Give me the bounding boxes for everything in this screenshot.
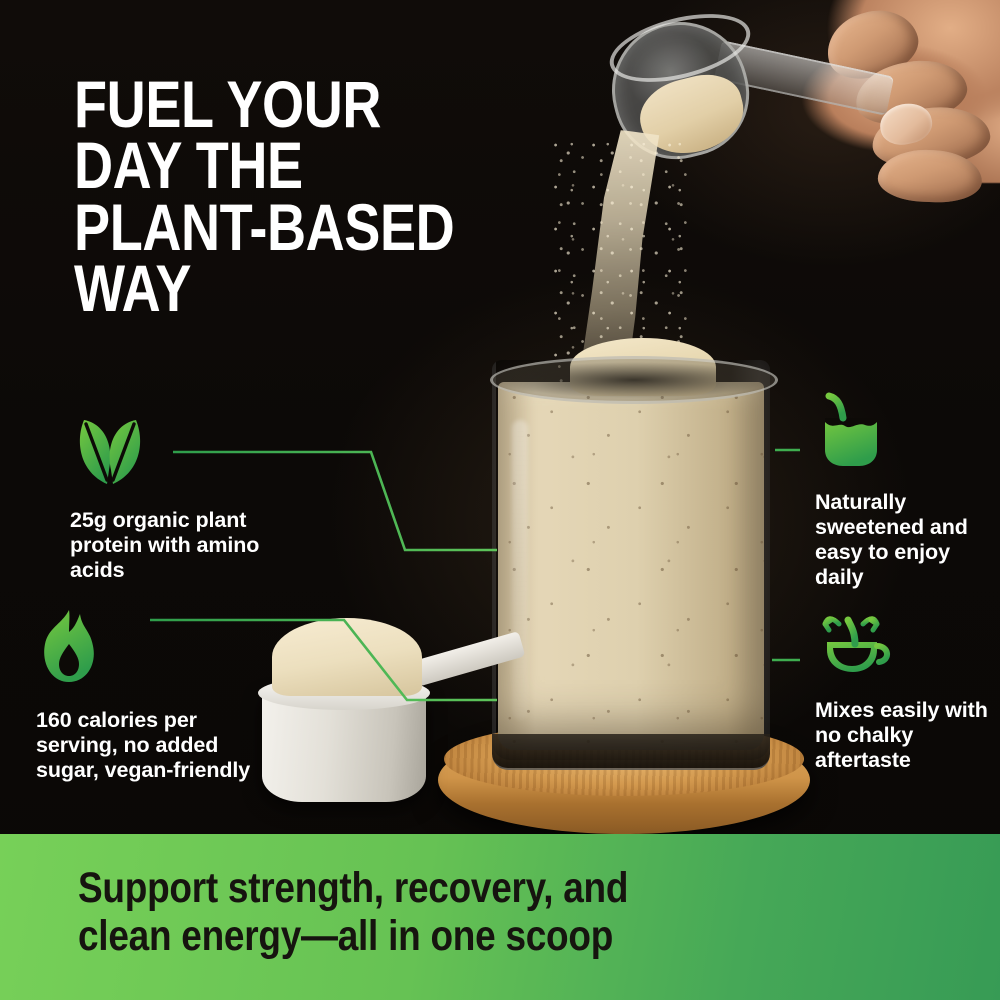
headline-line-4: WAY xyxy=(74,258,459,319)
banner-line-2: clean energy—all in one scoop xyxy=(78,912,783,960)
glass-rim xyxy=(490,356,778,404)
white-scoop-powder xyxy=(272,618,422,696)
smoothie-specks xyxy=(498,382,764,750)
feature-mixes: Mixes easily with no chalky aftertaste xyxy=(815,602,995,773)
glass-base xyxy=(492,734,770,770)
headline-line-2: DAY THE xyxy=(74,135,459,196)
product-infographic: FUEL YOUR DAY THE PLANT-BASED WAY 25g or… xyxy=(0,0,1000,1000)
coconut-drink-icon xyxy=(815,392,887,470)
flame-drop-icon xyxy=(36,608,102,686)
headline-line-1: FUEL YOUR xyxy=(74,74,459,135)
banner-text: Support strength, recovery, and clean en… xyxy=(78,864,783,960)
feature-calories: 160 calories per serving, no added sugar… xyxy=(36,608,262,783)
feature-mixes-text: Mixes easily with no chalky aftertaste xyxy=(815,698,995,773)
feature-sweetened: Naturally sweetened and easy to enjoy da… xyxy=(815,392,995,591)
headline-line-3: PLANT-BASED xyxy=(74,197,459,258)
headline: FUEL YOUR DAY THE PLANT-BASED WAY xyxy=(74,74,459,320)
banner-line-1: Support strength, recovery, and xyxy=(78,864,783,912)
feature-calories-text: 160 calories per serving, no added sugar… xyxy=(36,708,262,783)
glass-highlight xyxy=(512,420,528,720)
feature-protein: 25g organic plant protein with amino aci… xyxy=(70,412,296,583)
bottom-banner: Support strength, recovery, and clean en… xyxy=(0,834,1000,1000)
mixing-cup-icon xyxy=(815,602,903,678)
feature-protein-text: 25g organic plant protein with amino aci… xyxy=(70,508,296,583)
leaf-icon xyxy=(70,412,150,486)
feature-sweetened-text: Naturally sweetened and easy to enjoy da… xyxy=(815,490,995,591)
